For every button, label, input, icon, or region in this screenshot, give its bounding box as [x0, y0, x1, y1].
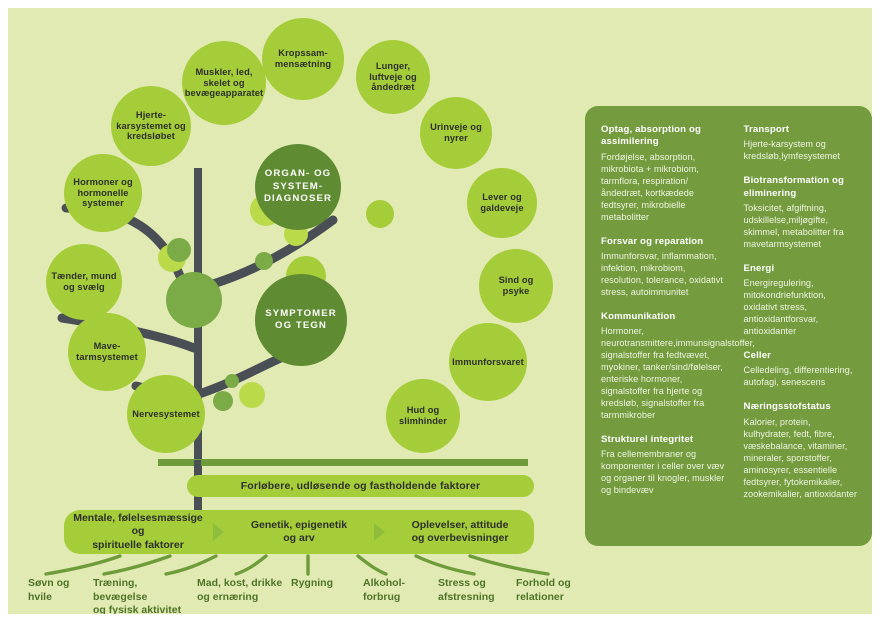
- bar-precipitating-factors[interactable]: Forløbere, udløsende og fastholdende fak…: [187, 475, 534, 497]
- decor-bubble-4: [255, 252, 273, 270]
- info-section-title: Næringsstofstatus: [744, 401, 859, 413]
- lifestyle-label-mad: Mad, kost, drikke og ernæring: [197, 577, 289, 604]
- decor-bubble-12: [213, 391, 233, 411]
- bubble-nervesystemet[interactable]: Nervesystemet: [127, 375, 205, 453]
- ground-line: [158, 459, 528, 466]
- bubble-urinveje-nyrer[interactable]: Urinveje og nyrer: [420, 97, 492, 169]
- bubble-label: Sind og psyke: [481, 275, 551, 297]
- decor-bubble-13: [239, 382, 265, 408]
- info-section-body: Fordøjelse, absorption, mikrobiota + mik…: [601, 151, 730, 223]
- bubble-label: Tænder, mund og svælg: [48, 271, 120, 293]
- decor-bubble-2: [167, 238, 191, 262]
- info-section-body: Hormoner, neurotransmittere,immunsignals…: [601, 325, 730, 421]
- infographic-canvas: Kropssam- mensætning Muskler, led, skele…: [8, 8, 872, 614]
- connector-factors-to-drivers: [194, 497, 201, 511]
- info-section-body: Energiregulering, mitokondriefunktion, o…: [744, 277, 859, 337]
- bubble-hud-slimhinder[interactable]: Hud og slimhinder: [386, 379, 460, 453]
- info-section-kommunikation: Kommunikation Hormoner, neurotransmitter…: [601, 311, 730, 421]
- info-section-body: Immunforsvar, inflammation, infektion, m…: [601, 250, 730, 298]
- lifestyle-label-forhold: Forhold og relationer: [516, 577, 592, 604]
- bubble-label: Urinveje og nyrer: [422, 122, 490, 144]
- bubble-label: Muskler, led, skelet og bevægeapparatet: [184, 67, 264, 100]
- info-section-biotransformation: Biotransformation og eliminering Toksici…: [744, 175, 859, 250]
- arrow-right-icon: [213, 523, 224, 541]
- info-section-title: Kommunikation: [601, 311, 730, 323]
- info-section-title: Strukturel integritet: [601, 434, 730, 446]
- core-node-label: ORGAN- OG SYSTEM- DIAGNOSER: [257, 168, 339, 205]
- bar-factors-label: Forløbere, udløsende og fastholdende fak…: [241, 480, 481, 492]
- bubble-label: Hormoner og hormonelle systemer: [66, 177, 140, 210]
- bubble-immunforsvaret[interactable]: Immunforsvaret: [449, 323, 527, 401]
- info-section-title: Transport: [744, 124, 859, 136]
- bubble-label: Mave- tarmsystemet: [70, 341, 144, 363]
- core-node-label: SYMPTOMER OG TEGN: [257, 308, 345, 333]
- lifestyle-label-rygning: Rygning: [291, 577, 353, 591]
- decor-bubble-14: [366, 200, 394, 228]
- info-section-body: Celledeling, differentiering, autofagi, …: [744, 364, 859, 388]
- bubble-muskler-led-skelet[interactable]: Muskler, led, skelet og bevægeapparatet: [182, 41, 266, 125]
- bubble-label: Kropssam- mensætning: [264, 48, 342, 70]
- info-section-body: Hjerte-karsystem og kredsløb,lymfesystem…: [744, 138, 859, 162]
- info-section-strukturel: Strukturel integritet Fra cellemembraner…: [601, 434, 730, 496]
- info-section-title: Optag, absorption og assimilering: [601, 124, 730, 149]
- info-section-title: Forsvar og reparation: [601, 236, 730, 248]
- info-section-title: Energi: [744, 263, 859, 275]
- bubble-label: Lunger, luftveje og åndedræt: [358, 61, 428, 94]
- lifestyle-label-soevn: Søvn og hvile: [28, 577, 94, 604]
- info-section-forsvar: Forsvar og reparation Immunforsvar, infl…: [601, 236, 730, 298]
- info-section-title: Celler: [744, 350, 859, 362]
- bubble-label: Nervesystemet: [129, 409, 203, 420]
- decor-bubble-11: [225, 374, 239, 388]
- info-section-body: Kalorier, protein, kulhydrater, fedt, fi…: [744, 416, 859, 500]
- core-node-organ-diagnoses[interactable]: ORGAN- OG SYSTEM- DIAGNOSER: [255, 144, 341, 230]
- bubble-sind-psyke[interactable]: Sind og psyke: [479, 249, 553, 323]
- driver-mental-emotional[interactable]: Mentale, følelsesmæssige og spirituelle …: [64, 512, 212, 551]
- bubble-label: Hud og slimhinder: [388, 405, 458, 427]
- root-lines: [46, 556, 548, 574]
- lifestyle-label-traening: Træning, bevægelse og fysisk aktivitet: [93, 577, 193, 614]
- lifestyle-label-stress: Stress og afstresning: [438, 577, 514, 604]
- arrow-right-icon: [374, 523, 385, 541]
- bubble-label: Immunforsvaret: [451, 357, 525, 368]
- connector-trunk-to-factors: [194, 460, 201, 476]
- bubble-kropssammensaetning[interactable]: Kropssam- mensætning: [262, 18, 344, 100]
- info-section-energi: Energi Energiregulering, mitokondriefunk…: [744, 263, 859, 337]
- info-section-body: Toksicitet, afgiftning, udskillelse,milj…: [744, 202, 859, 250]
- core-node-symptoms[interactable]: SYMPTOMER OG TEGN: [255, 274, 347, 366]
- bubble-label: Hjerte- karsystemet og kredsløbet: [113, 110, 189, 143]
- bubble-lunger-luftveje[interactable]: Lunger, luftveje og åndedræt: [356, 40, 430, 114]
- info-panel-left-column: Optag, absorption og assimilering Fordøj…: [601, 124, 730, 536]
- bubble-taender-mund[interactable]: Tænder, mund og svælg: [46, 244, 122, 320]
- info-panel: Optag, absorption og assimilering Fordøj…: [585, 106, 872, 546]
- lifestyle-label-alkohol: Alkohol- forbrug: [363, 577, 429, 604]
- info-section-celler: Celler Celledeling, differentiering, aut…: [744, 350, 859, 388]
- info-section-optag: Optag, absorption og assimilering Fordøj…: [601, 124, 730, 223]
- bubble-lever-galdeveje[interactable]: Lever og galdeveje: [467, 168, 537, 238]
- info-section-naeringsstofstatus: Næringsstofstatus Kalorier, protein, kul…: [744, 401, 859, 499]
- info-section-body: Fra cellemembraner og komponenter i cell…: [601, 448, 730, 496]
- bubble-mave-tarm[interactable]: Mave- tarmsystemet: [68, 313, 146, 391]
- info-panel-right-column: Transport Hjerte-karsystem og kredsløb,l…: [744, 124, 859, 536]
- decor-bubble-3: [166, 272, 222, 328]
- bubble-label: Lever og galdeveje: [469, 192, 535, 214]
- bubble-hormoner[interactable]: Hormoner og hormonelle systemer: [64, 154, 142, 232]
- driver-experiences[interactable]: Oplevelser, attitude og overbevisninger: [386, 519, 534, 545]
- bar-drivers[interactable]: Mentale, følelsesmæssige og spirituelle …: [64, 510, 534, 554]
- info-section-title: Biotransformation og eliminering: [744, 175, 859, 200]
- driver-genetics[interactable]: Genetik, epigenetik og arv: [225, 519, 373, 545]
- bubble-hjerte-karsystemet[interactable]: Hjerte- karsystemet og kredsløbet: [111, 86, 191, 166]
- info-section-transport: Transport Hjerte-karsystem og kredsløb,l…: [744, 124, 859, 162]
